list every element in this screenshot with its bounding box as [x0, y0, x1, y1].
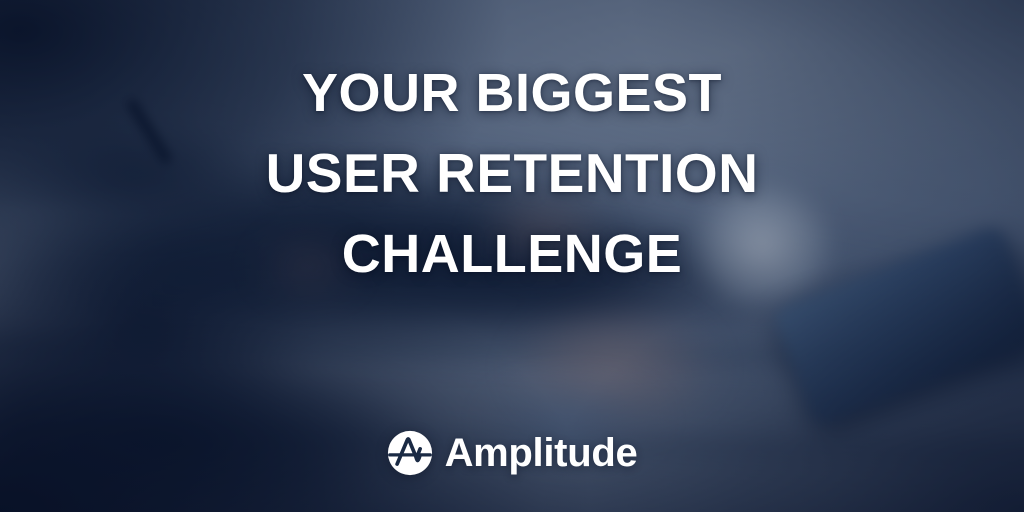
amplitude-logo-icon — [387, 430, 433, 476]
headline-line-2: USER RETENTION — [0, 146, 1024, 201]
card-content: YOUR BIGGEST USER RETENTION CHALLENGE Am… — [0, 0, 1024, 512]
headline-line-1: YOUR BIGGEST — [0, 66, 1024, 120]
social-card: YOUR BIGGEST USER RETENTION CHALLENGE Am… — [0, 0, 1024, 512]
amplitude-logo: Amplitude — [0, 430, 1024, 476]
headline-line-3: CHALLENGE — [0, 227, 1024, 281]
amplitude-wordmark: Amplitude — [445, 433, 638, 473]
